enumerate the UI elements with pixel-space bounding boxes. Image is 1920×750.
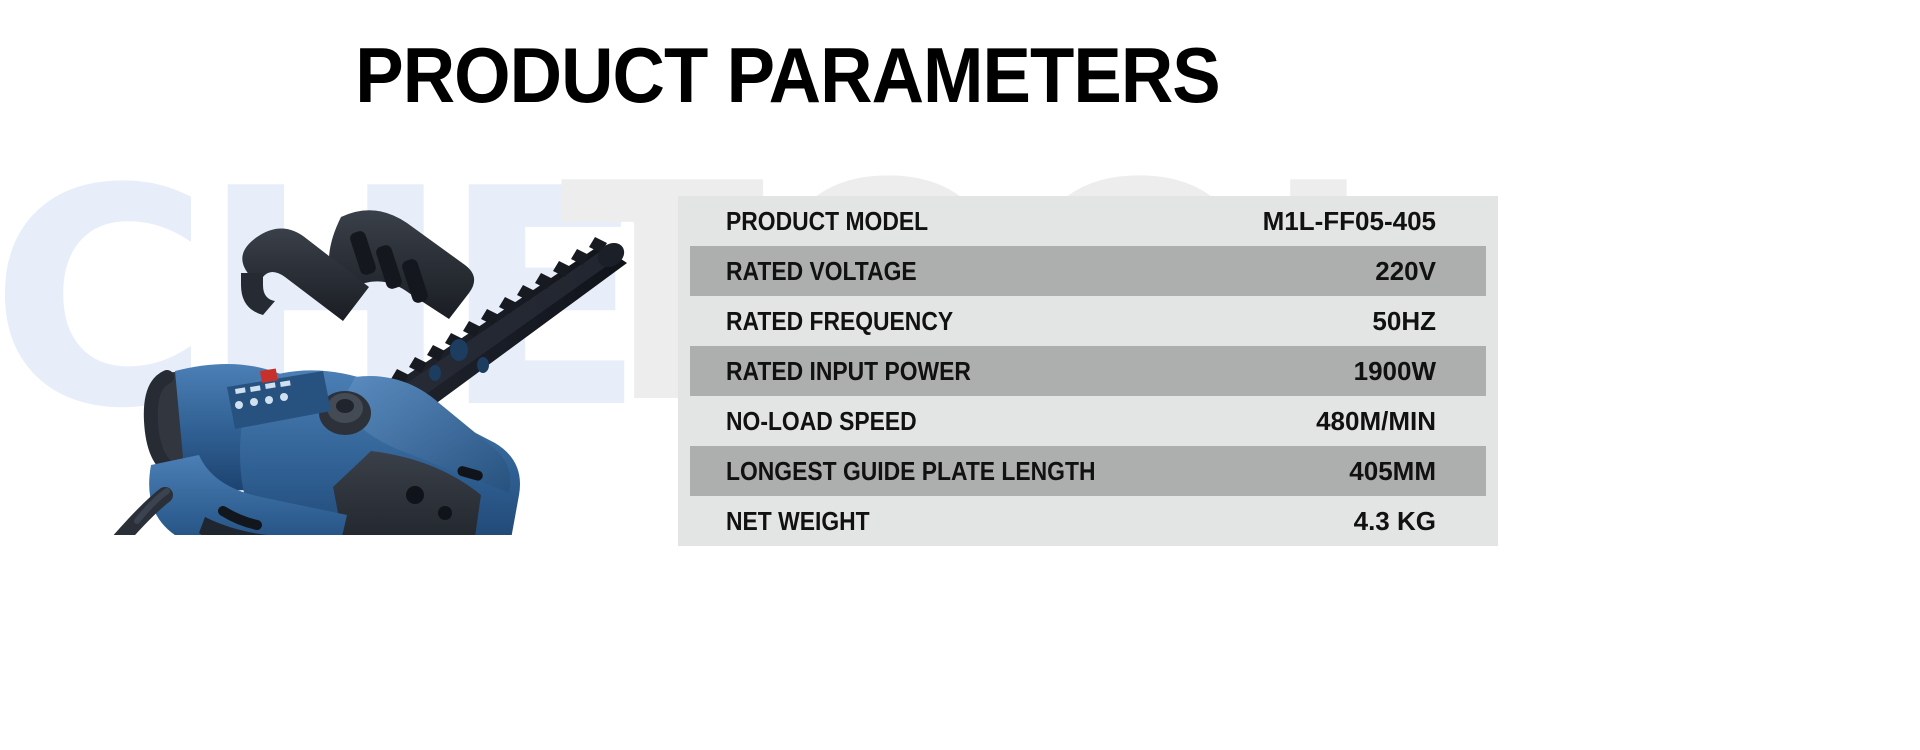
page-title: PRODUCT PARAMETERS — [55, 30, 1520, 121]
spec-value: 1900W — [1354, 356, 1436, 387]
spec-value: 480M/MIN — [1316, 406, 1436, 437]
spec-label: LONGEST GUIDE PLATE LENGTH — [726, 456, 1095, 487]
table-row: NO-LOAD SPEED 480M/MIN — [678, 396, 1498, 446]
spec-label: NO-LOAD SPEED — [726, 406, 917, 437]
spec-value: 405MM — [1349, 456, 1436, 487]
spec-label: NET WEIGHT — [726, 506, 870, 537]
table-row: NET WEIGHT 4.3 KG — [678, 496, 1498, 546]
spec-value: M1L-FF05-405 — [1263, 206, 1436, 237]
table-row: PRODUCT MODEL M1L-FF05-405 — [678, 196, 1498, 246]
table-row: LONGEST GUIDE PLATE LENGTH 405MM — [678, 446, 1498, 496]
spec-value: 220V — [1375, 256, 1436, 287]
spec-value: 4.3 KG — [1354, 506, 1436, 537]
spec-value: 50HZ — [1372, 306, 1436, 337]
product-image-chainsaw — [55, 165, 675, 535]
spec-label: PRODUCT MODEL — [726, 206, 928, 237]
spec-label: RATED INPUT POWER — [726, 356, 971, 387]
table-row: RATED VOLTAGE 220V — [678, 246, 1498, 296]
spec-label: RATED FREQUENCY — [726, 306, 953, 337]
table-row: RATED FREQUENCY 50HZ — [678, 296, 1498, 346]
spec-table: PRODUCT MODEL M1L-FF05-405 RATED VOLTAGE… — [678, 196, 1498, 546]
spec-label: RATED VOLTAGE — [726, 256, 917, 287]
table-row: RATED INPUT POWER 1900W — [678, 346, 1498, 396]
